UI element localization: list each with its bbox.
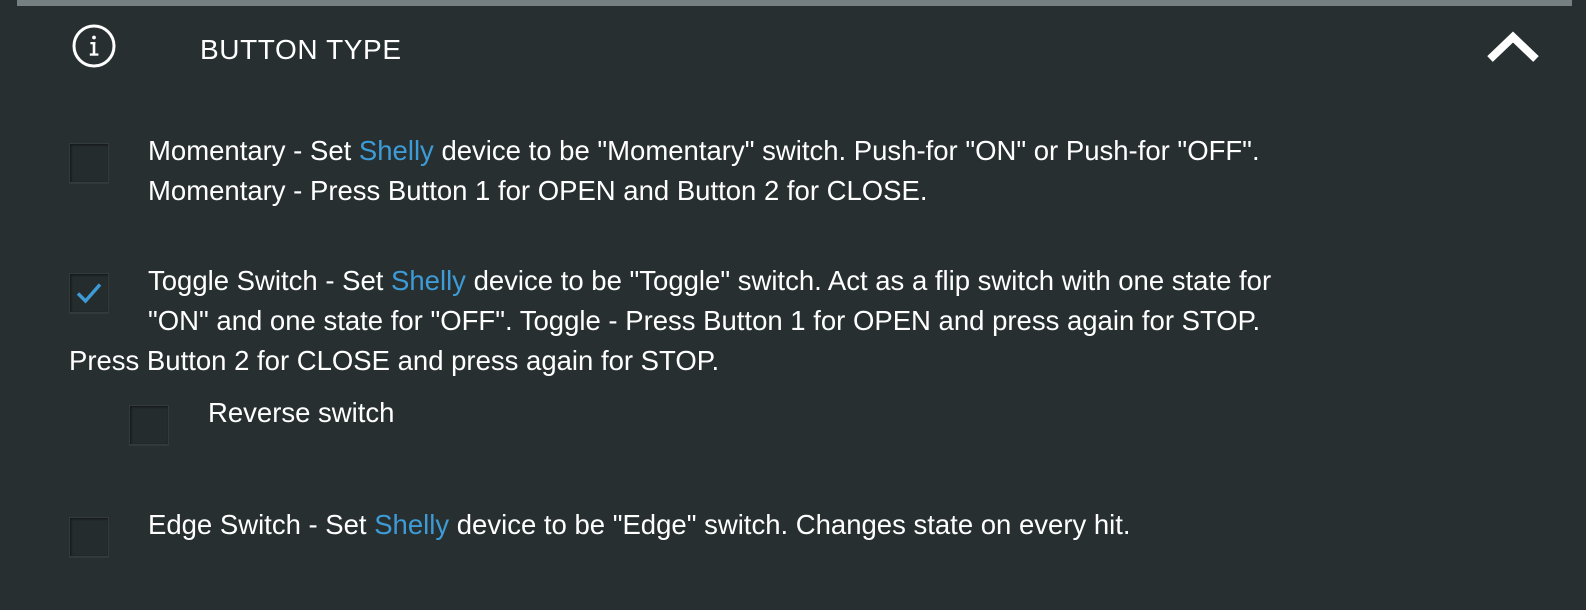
brand-link-shelly[interactable]: Shelly — [374, 509, 449, 540]
option-label-toggle: Toggle Switch - Set Shelly device to be … — [148, 261, 1488, 341]
checkbox-edge[interactable] — [69, 517, 109, 557]
checkbox-reverse-switch[interactable] — [129, 405, 169, 445]
chevron-up-icon[interactable] — [1486, 29, 1540, 71]
option-label-reverse-switch: Reverse switch — [208, 393, 394, 433]
panel-header[interactable]: BUTTON TYPE — [0, 7, 1586, 85]
horizontal-scrollbar-thumb[interactable] — [17, 0, 1572, 6]
option-label-toggle-overflow: Press Button 2 for CLOSE and press again… — [69, 341, 1519, 381]
option-text-after-edge: device to be "Edge" switch. Changes stat… — [449, 509, 1130, 540]
option-label-edge: Edge Switch - Set Shelly device to be "E… — [148, 505, 1478, 545]
option-text-before-edge: Edge Switch - Set — [148, 509, 374, 540]
checkbox-momentary[interactable] — [69, 143, 109, 183]
info-icon[interactable] — [71, 23, 117, 69]
option-text-before-toggle: Toggle Switch - Set — [148, 265, 391, 296]
option-label-momentary: Momentary - Set Shelly device to be "Mom… — [148, 131, 1478, 211]
brand-link-shelly[interactable]: Shelly — [391, 265, 466, 296]
page-title: BUTTON TYPE — [200, 32, 402, 68]
brand-link-shelly[interactable]: Shelly — [359, 135, 434, 166]
option-text-before-momentary: Momentary - Set — [148, 135, 359, 166]
horizontal-scrollbar-track[interactable] — [0, 0, 1586, 7]
checkbox-toggle[interactable] — [69, 273, 109, 313]
